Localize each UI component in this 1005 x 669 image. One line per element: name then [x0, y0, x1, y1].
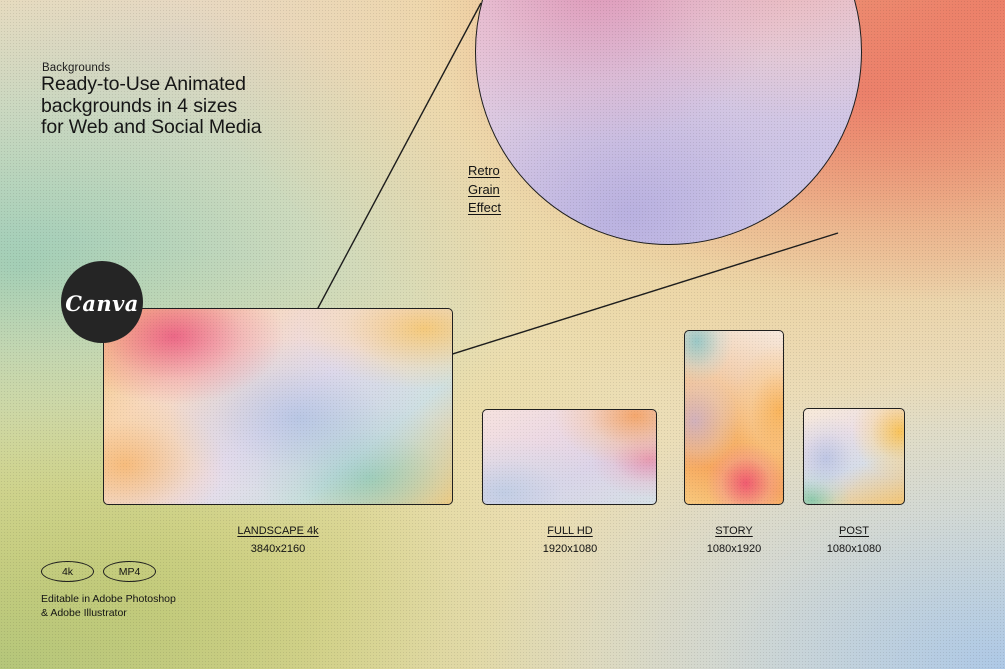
- magnified-grain-circle: [475, 0, 862, 245]
- canva-logo: Canva: [61, 261, 143, 343]
- card-grain-texture: [104, 309, 452, 504]
- page-title: Ready-to-Use Animated backgrounds in 4 s…: [41, 74, 262, 139]
- editable-software-note: Editable in Adobe Photoshop & Adobe Illu…: [41, 592, 176, 620]
- preview-card-story[interactable]: [684, 330, 784, 505]
- caption-post: POST 1080x1080: [779, 523, 929, 557]
- card-grain-texture: [685, 331, 783, 504]
- caption-dimensions: 1920x1080: [495, 541, 645, 557]
- format-badges: 4k MP4: [41, 561, 156, 582]
- preview-card-post[interactable]: [803, 408, 905, 505]
- badge-4k: 4k: [41, 561, 94, 582]
- caption-dimensions: 3840x2160: [178, 541, 378, 557]
- magnified-grain-texture: [476, 0, 861, 244]
- canva-wordmark: Canva: [65, 291, 138, 316]
- retro-line-1: Retro: [468, 162, 501, 181]
- retro-line-3: Effect: [468, 199, 501, 218]
- caption-name: FULL HD: [495, 523, 645, 539]
- retro-line-2: Grain: [468, 181, 501, 200]
- caption-name: POST: [779, 523, 929, 539]
- preview-card-landscape[interactable]: [103, 308, 453, 505]
- card-grain-texture: [483, 410, 656, 504]
- preview-card-fullhd[interactable]: [482, 409, 657, 505]
- caption-dimensions: 1080x1080: [779, 541, 929, 557]
- caption-fullhd: FULL HD 1920x1080: [495, 523, 645, 557]
- poster-canvas: Backgrounds Ready-to-Use Animated backgr…: [0, 0, 1005, 669]
- caption-landscape: LANDSCAPE 4k 3840x2160: [178, 523, 378, 557]
- retro-grain-effect-label: Retro Grain Effect: [468, 162, 501, 218]
- caption-name: LANDSCAPE 4k: [178, 523, 378, 539]
- card-grain-texture: [804, 409, 904, 504]
- badge-mp4: MP4: [103, 561, 156, 582]
